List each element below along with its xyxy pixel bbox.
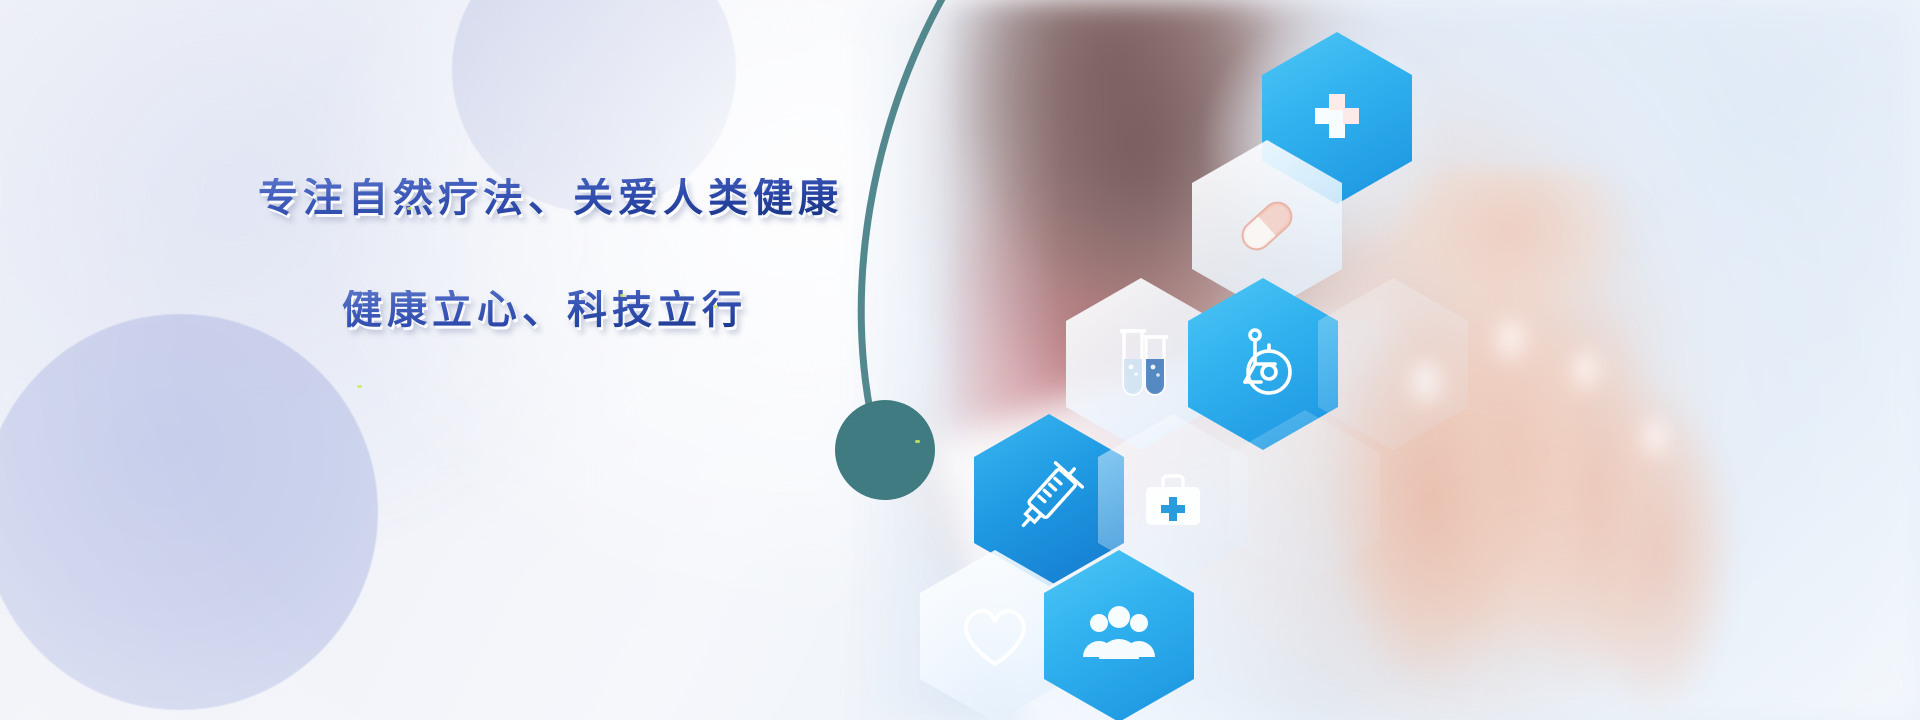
fingernail (1496, 320, 1528, 362)
fingernail (1572, 352, 1602, 392)
headline-block: 专注自然疗法、关爱人类健康 健康立心、科技立行 (258, 178, 878, 330)
fingernail (1642, 420, 1670, 458)
sparkle (407, 207, 412, 210)
teal-circle-node (835, 400, 935, 500)
hero-banner: 专注自然疗法、关爱人类健康 健康立心、科技立行 (0, 0, 1920, 720)
decorative-hexagon (1318, 278, 1468, 450)
lavender-circle-bottom (0, 314, 378, 710)
sparkle (713, 305, 718, 308)
hexagon-icon-cluster (930, 10, 1490, 720)
headline-line-2: 健康立心、科技立行 (342, 290, 878, 330)
headline-line-1: 专注自然疗法、关爱人类健康 (258, 178, 878, 218)
sparkle (620, 294, 625, 297)
sparkle (915, 440, 920, 443)
sparkle (357, 385, 362, 388)
